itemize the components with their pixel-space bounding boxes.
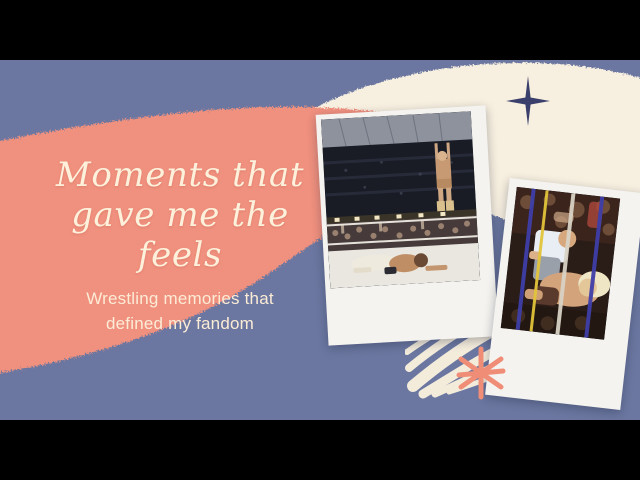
polaroid-photo-1[interactable] (316, 105, 499, 345)
photo-2-image (501, 187, 620, 340)
coral-asterisk-icon (455, 345, 507, 401)
text-block: Moments that gave me the feels Wrestling… (30, 155, 330, 337)
letterbox-bar-bottom (0, 420, 640, 480)
page-subtitle: Wrestling memories that defined my fando… (30, 287, 330, 336)
polaroid-photo-2[interactable] (485, 178, 640, 410)
thumbnail-canvas: Moments that gave me the feels Wrestling… (0, 60, 640, 420)
letterbox-bar-top (0, 0, 640, 60)
video-thumbnail: Moments that gave me the feels Wrestling… (0, 0, 640, 480)
photo-1-image (321, 111, 480, 288)
page-title: Moments that gave me the feels (30, 155, 330, 275)
sparkle-star-icon (505, 75, 551, 127)
